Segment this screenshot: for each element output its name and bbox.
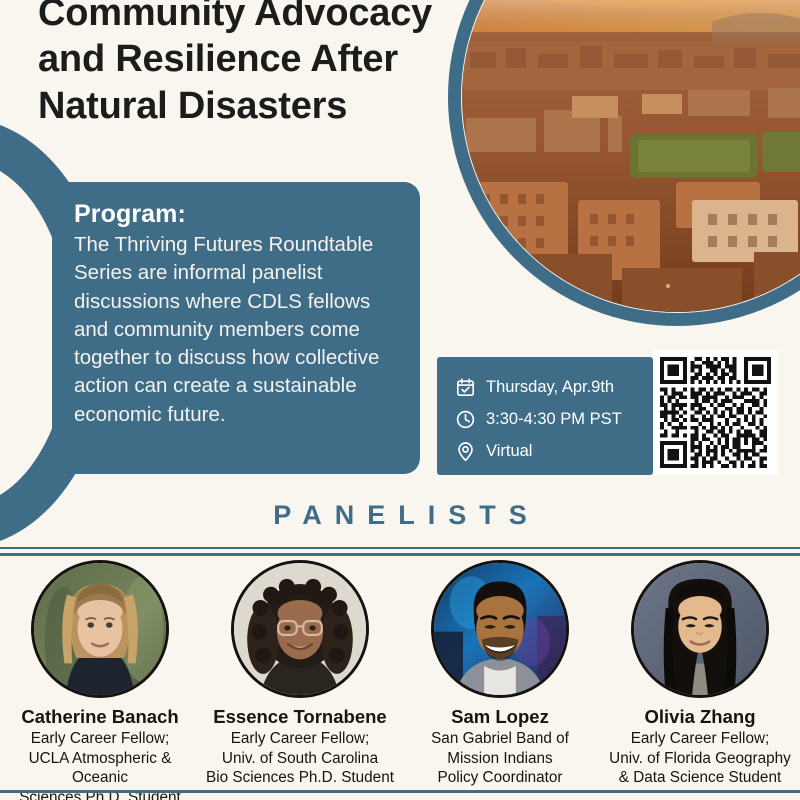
detail-text-date: Thursday, Apr.9th [486,378,614,397]
calendar-check-icon [455,377,476,398]
panelist-card: Catherine Banach Early Career Fellow; UC… [0,560,200,788]
panelist-name: Catherine Banach [21,706,178,727]
event-details-card: Thursday, Apr.9th 3:30-4:30 PM PST Virtu… [437,357,653,475]
program-card: Program: The Thriving Futures Roundtable… [52,182,420,474]
avatar [31,560,169,698]
detail-text-time: 3:30-4:30 PM PST [486,410,622,429]
detail-row-date: Thursday, Apr.9th [455,371,653,403]
avatar [231,560,369,698]
panelist-affiliation: Early Career Fellow; Univ. of South Caro… [206,729,394,788]
hero-photo-wildfire-city [462,0,800,312]
panelist-card: Essence Tornabene Early Career Fellow; U… [200,560,400,788]
panelist-card: Sam Lopez San Gabriel Band of Mission In… [400,560,600,788]
detail-row-time: 3:30-4:30 PM PST [455,403,653,435]
page-title: Community Advocacy and Resilience After … [38,0,458,129]
program-body: The Thriving Futures Roundtable Series a… [74,231,398,429]
panelist-affiliation: Early Career Fellow; Univ. of Florida Ge… [609,729,791,788]
panelists-list: Catherine Banach Early Career Fellow; UC… [0,560,800,788]
panelist-name: Sam Lopez [451,706,549,727]
qr-code[interactable] [653,350,778,475]
event-flyer: Community Advocacy and Resilience After … [0,0,800,800]
detail-text-location: Virtual [486,442,532,461]
divider-top-thin [0,547,800,549]
location-pin-icon [455,441,476,462]
panelist-card: Olivia Zhang Early Career Fellow; Univ. … [600,560,800,788]
panelist-name: Olivia Zhang [644,706,755,727]
clock-icon [455,409,476,430]
avatar [431,560,569,698]
detail-row-location: Virtual [455,435,653,467]
hero-image-container [462,0,800,312]
avatar [631,560,769,698]
divider-top-thick [0,553,800,556]
divider-bottom [0,790,800,793]
panelists-heading: PANELISTS [0,500,800,531]
program-heading: Program: [74,200,398,229]
panelist-affiliation: San Gabriel Band of Mission Indians Poli… [431,729,569,788]
panelist-name: Essence Tornabene [213,706,386,727]
